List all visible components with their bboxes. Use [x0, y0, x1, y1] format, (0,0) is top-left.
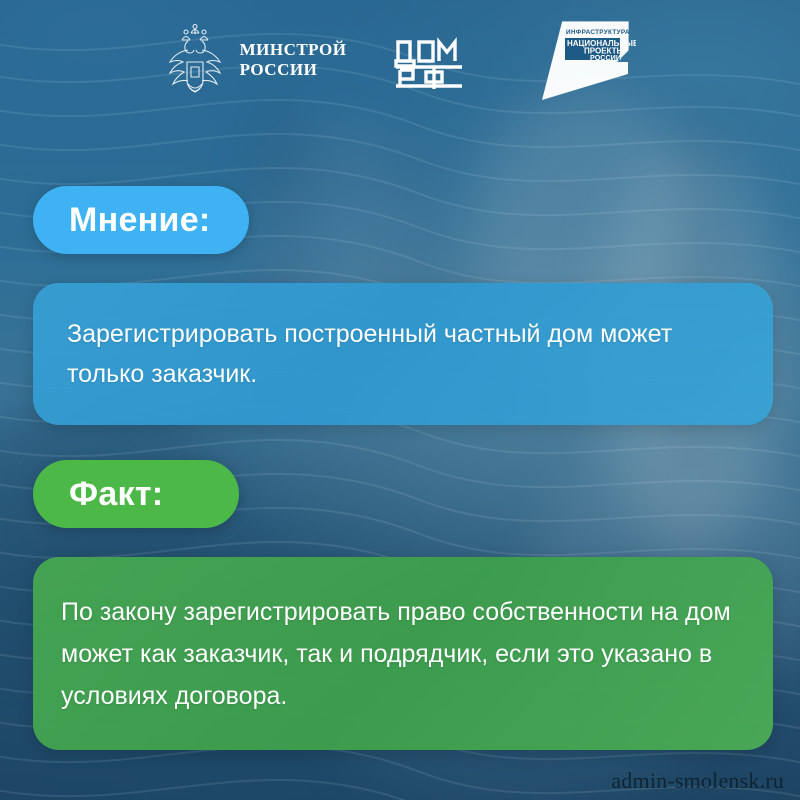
svg-text:ИНФРАСТРУКТУРА: ИНФРАСТРУКТУРА	[566, 29, 630, 36]
minstroy-logo: МИНСТРОЙ РОССИИ	[164, 24, 347, 96]
domrf-logo-icon	[394, 29, 466, 91]
opinion-card: Зарегистрировать построенный частный дом…	[33, 283, 773, 425]
infographic-page: МИНСТРОЙ РОССИИ	[0, 0, 800, 800]
fact-badge: Факт:	[33, 460, 239, 528]
opinion-badge: Мнение:	[33, 186, 249, 254]
header-logos: МИНСТРОЙ РОССИИ	[0, 0, 800, 120]
fact-text: По закону зарегистрировать право собстве…	[61, 591, 745, 717]
site-watermark: admin-smolensk.ru	[611, 768, 784, 794]
opinion-text: Зарегистрировать построенный частный дом…	[67, 314, 739, 394]
fact-badge-label: Факт:	[69, 475, 163, 514]
minstroy-label: МИНСТРОЙ РОССИИ	[240, 40, 347, 80]
russian-coat-of-arms-icon	[164, 24, 226, 96]
minstroy-line2: РОССИИ	[240, 60, 347, 80]
national-projects-logo-icon: ИНФРАСТРУКТУРА НАЦИОНАЛЬНЫЕ ПРОЕКТЫ РОСС…	[532, 16, 636, 104]
minstroy-line1: МИНСТРОЙ	[240, 40, 347, 60]
fact-card: По закону зарегистрировать право собстве…	[33, 557, 773, 750]
svg-text:РОССИИ: РОССИИ	[590, 53, 621, 62]
opinion-badge-label: Мнение:	[69, 201, 211, 240]
